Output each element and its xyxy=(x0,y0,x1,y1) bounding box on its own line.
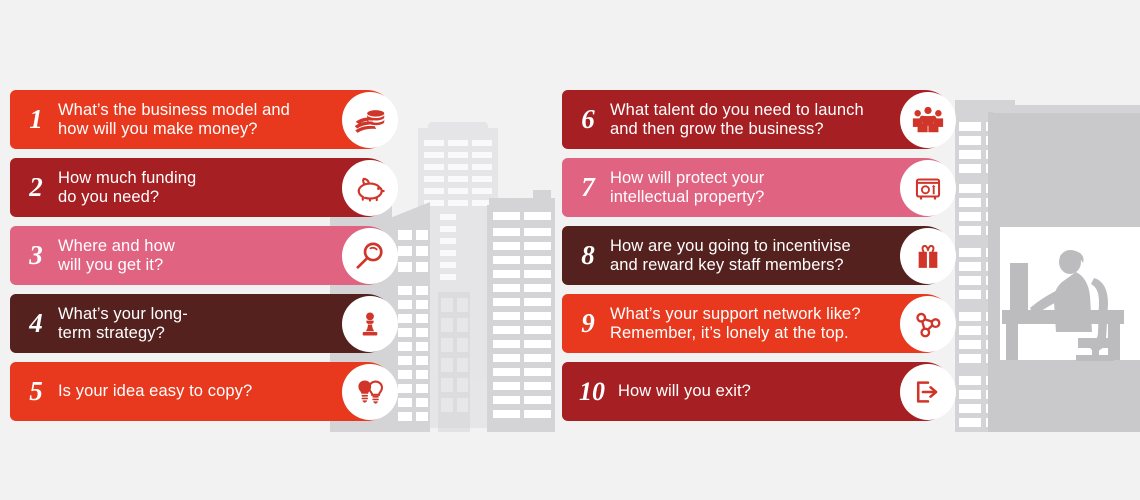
network-nodes-icon xyxy=(900,296,956,352)
question-number: 5 xyxy=(10,378,58,405)
question-number: 4 xyxy=(10,310,58,337)
money-stack-icon xyxy=(342,92,398,148)
question-number: 8 xyxy=(562,242,610,269)
skyline-tower-checker xyxy=(438,292,470,432)
question-column-left: 1What’s the business model and how will … xyxy=(10,90,396,421)
question-bar-4[interactable]: 4What’s your long- term strategy? xyxy=(10,294,396,353)
safe-vault-icon xyxy=(900,160,956,216)
question-number: 10 xyxy=(562,379,618,405)
question-bar-6[interactable]: 6What talent do you need to launch and t… xyxy=(562,90,954,149)
skyline-twin-tower xyxy=(487,190,555,432)
gift-bag-icon xyxy=(900,228,956,284)
question-number: 7 xyxy=(562,174,610,201)
piggy-bank-icon xyxy=(342,160,398,216)
question-number: 9 xyxy=(562,310,610,337)
question-bar-2[interactable]: 2How much funding do you need? xyxy=(10,158,396,217)
question-bar-7[interactable]: 7How will protect your intellectual prop… xyxy=(562,158,954,217)
question-number: 2 xyxy=(10,174,58,201)
magnifying-glass-icon xyxy=(342,228,398,284)
question-bar-3[interactable]: 3Where and how will you get it? xyxy=(10,226,396,285)
infographic-canvas: 1What’s the business model and how will … xyxy=(0,0,1140,500)
question-bar-8[interactable]: 8How are you going to incentivise and re… xyxy=(562,226,954,285)
question-number: 1 xyxy=(10,106,58,133)
question-number: 6 xyxy=(562,106,610,133)
exit-door-icon xyxy=(900,364,956,420)
question-column-right: 6What talent do you need to launch and t… xyxy=(562,90,954,421)
question-bar-5[interactable]: 5Is your idea easy to copy? xyxy=(10,362,396,421)
question-bar-1[interactable]: 1What’s the business model and how will … xyxy=(10,90,396,149)
question-bar-10[interactable]: 10How will you exit? xyxy=(562,362,954,421)
office-window-scene xyxy=(988,105,1140,432)
two-lightbulbs-icon xyxy=(342,364,398,420)
question-number: 3 xyxy=(10,242,58,269)
question-bar-9[interactable]: 9What’s your support network like? Remem… xyxy=(562,294,954,353)
chess-pawn-icon xyxy=(342,296,398,352)
team-people-icon xyxy=(900,92,956,148)
